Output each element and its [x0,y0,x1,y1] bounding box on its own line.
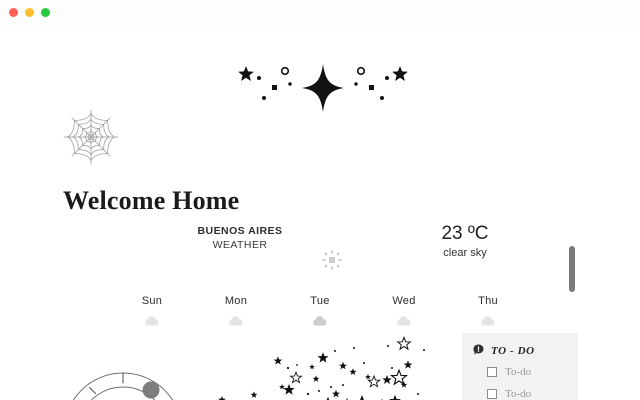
cloud-icon [143,314,161,326]
forecast-day-label: Wed [362,294,446,308]
weather-readout: 23 ºC clear sky [410,222,520,261]
page-title: Welcome Home [63,186,239,216]
forecast-day-mon[interactable]: Mon [194,294,278,326]
sparkle-cluster-icon [228,58,418,114]
gauge-icon [48,342,198,400]
forecast-day-thu[interactable]: Thu [446,294,530,326]
todo-title: TO - DO [491,345,535,357]
forecast-day-label: Sun [110,294,194,308]
sun-icon [322,250,342,270]
forecast-day-label: Thu [446,294,530,308]
todo-checkbox[interactable] [487,367,497,377]
weather-sublabel: WEATHER [155,238,325,252]
close-button[interactable] [9,8,18,17]
cloud-icon [311,314,329,326]
weather-forecast-row: Sun Mon Tue [110,294,530,326]
window-titlebar [0,0,640,26]
todo-checkbox[interactable] [487,389,497,399]
forecast-day-wed[interactable]: Wed [362,294,446,326]
weather-widget: BUENOS AIRES WEATHER [110,222,530,322]
todo-item[interactable]: To-do [462,362,578,381]
alert-bubble-icon [473,342,484,360]
todo-header: TO - DO [462,343,578,359]
forecast-day-label: Tue [278,294,362,308]
cloud-icon [227,314,245,326]
minimize-button[interactable] [25,8,34,17]
todo-item[interactable]: To-do [462,384,578,400]
todo-widget: TO - DO To-do To-do [462,333,578,400]
weather-current-row: BUENOS AIRES WEATHER [110,222,530,270]
weather-temperature: 23 ºC [410,222,520,246]
window-controls [9,8,50,17]
spider-web-icon [62,108,120,166]
forecast-day-tue[interactable]: Tue [278,294,362,326]
maximize-button[interactable] [41,8,50,17]
app-window: Welcome Home BUENOS AIRES WEATHER [0,0,640,400]
todo-item-label: To-do [505,366,531,378]
forecast-day-label: Mon [194,294,278,308]
cloud-icon [479,314,497,326]
weather-location: BUENOS AIRES WEATHER [155,224,325,252]
cloud-icon [395,314,413,326]
todo-item-label: To-do [505,388,531,400]
weather-city-label: BUENOS AIRES [155,224,325,238]
page-content: Welcome Home BUENOS AIRES WEATHER [0,26,640,400]
scrollbar-thumb[interactable] [569,246,575,292]
forecast-day-sun[interactable]: Sun [110,294,194,326]
weather-description: clear sky [410,246,520,261]
star-field-icon [196,332,436,400]
